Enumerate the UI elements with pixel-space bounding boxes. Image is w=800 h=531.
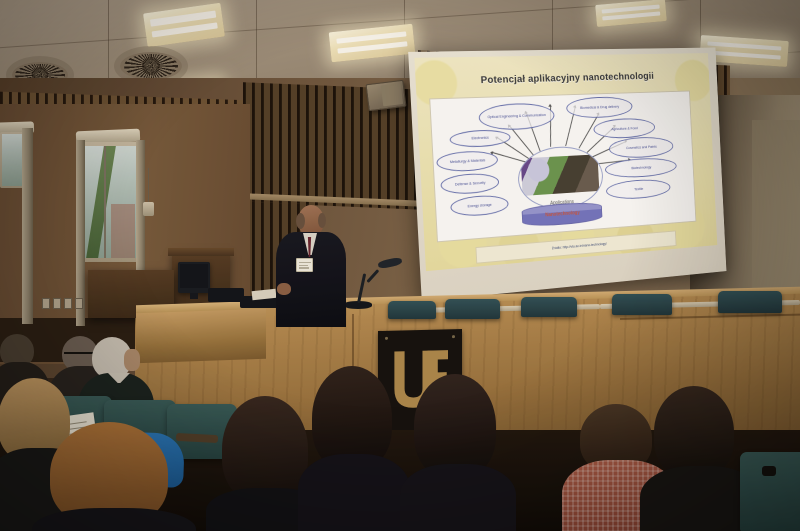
- presentation-slide: Potencjał aplikacyjny nanotechnologii: [414, 53, 717, 271]
- av-equipment: [208, 288, 244, 302]
- audience-member: [300, 366, 404, 531]
- socket-icon: [64, 298, 72, 309]
- nanotechnology-label: Nanotechnology: [545, 210, 580, 218]
- wall-sensor-box: [143, 202, 154, 216]
- badge-line: [299, 267, 310, 269]
- lecture-hall-scene: Potencjał aplikacyjny nanotechnologii: [0, 0, 800, 531]
- nanostructure-image: [521, 154, 599, 196]
- socket-icon: [53, 298, 61, 309]
- diagram-bubble-metallurgy: Metallurgy & Materials: [436, 150, 498, 173]
- audience-body: [400, 464, 516, 531]
- diagram-bubble-energy-storage: Energy storage: [450, 194, 509, 218]
- window-glass: [84, 146, 136, 258]
- bubble-label: Cosmetics and Paints: [626, 145, 657, 150]
- stage-chair[interactable]: [388, 301, 436, 319]
- stage-desk-front: [136, 309, 266, 364]
- stage-chair[interactable]: [521, 297, 577, 317]
- screen-surface: Potencjał aplikacyjny nanotechnologii: [408, 48, 726, 302]
- window-mullion: [104, 146, 106, 258]
- bubble-label: Electronics: [471, 136, 489, 141]
- seat-knob: [762, 466, 776, 476]
- presenter: [268, 205, 352, 325]
- audience-member: [36, 422, 186, 531]
- lectern-top: [168, 248, 234, 256]
- auditorium-seat[interactable]: [740, 452, 800, 531]
- badge-line: [299, 262, 311, 264]
- audience-body: [298, 454, 410, 531]
- badge-line: [299, 265, 308, 267]
- audience-hair: [414, 374, 496, 478]
- sensor-cable: [148, 168, 149, 204]
- bubble-label: Defense & Security: [455, 181, 486, 187]
- window-view-building: [111, 204, 135, 258]
- diagram-bubble-electronics: Electronics: [449, 129, 510, 149]
- audience-member: [404, 374, 508, 531]
- bubble-label: Biotechnology: [631, 166, 651, 171]
- stage-chair[interactable]: [718, 291, 782, 313]
- bubble-label: Biomedical & Drug delivery: [580, 105, 619, 110]
- stage-chair[interactable]: [445, 299, 500, 319]
- stage-chair[interactable]: [612, 294, 672, 315]
- presenter-name-badge: [296, 258, 313, 272]
- diagram-center-applications: Applications: [516, 145, 604, 212]
- wall-speaker-icon: [365, 80, 406, 111]
- projection-screen: Potencjał aplikacyjny nanotechnologii: [415, 52, 765, 302]
- diagram-bubble-textile: Textile: [606, 178, 671, 201]
- diagram-bubble-optical-engineering: Optical Engineering & Communication: [478, 102, 554, 131]
- slide-diagram-canvas: Optical Engineering & Communication Elec…: [430, 90, 697, 242]
- audience-body: [32, 508, 196, 531]
- monitor-stand: [190, 293, 198, 299]
- presenter-hand: [277, 283, 291, 295]
- bubble-label: Agriculture & Food: [611, 126, 638, 131]
- bubble-label: Textile: [634, 187, 643, 192]
- diagram-bubble-defense: Defense & Security: [440, 172, 499, 195]
- diagram-bubble-biomedical: Biomedical & Drug delivery: [566, 96, 633, 120]
- monitor-screen: [180, 264, 208, 288]
- bubble-label: Metallurgy & Materials: [450, 158, 486, 164]
- window-pillar: [22, 128, 33, 324]
- air-diffuser-icon: [120, 52, 182, 80]
- bubble-label: Energy storage: [468, 203, 492, 209]
- window-glass: [2, 134, 24, 186]
- socket-icon: [75, 298, 83, 309]
- presenter-hair: [296, 213, 305, 229]
- audience-face: [124, 349, 140, 371]
- bubble-label: Optical Engineering & Communication: [487, 113, 546, 119]
- stage-monitor: [178, 262, 210, 293]
- audience-hair: [654, 386, 734, 478]
- audience-hair: [222, 396, 308, 502]
- presenter-hair: [318, 213, 326, 228]
- audience-member: [644, 386, 754, 531]
- diagram-bubble-cosmetics: Cosmetics and Paints: [609, 136, 673, 159]
- socket-icon: [42, 298, 50, 309]
- wall-sockets: [42, 298, 83, 309]
